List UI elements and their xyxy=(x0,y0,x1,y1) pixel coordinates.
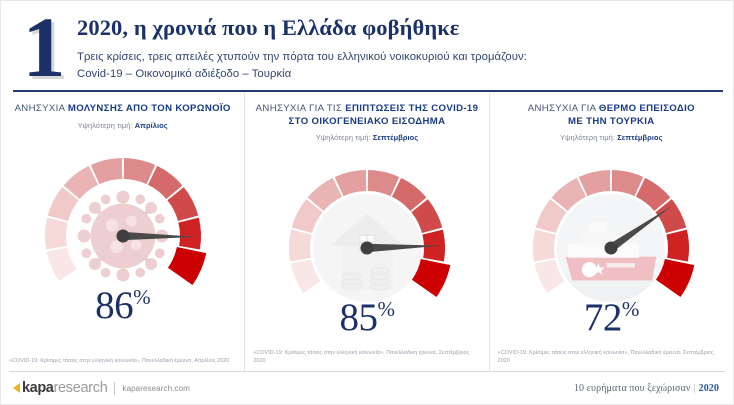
gauge xyxy=(25,132,221,292)
gauge-dial xyxy=(25,132,221,292)
gauge-value-number: 86 xyxy=(95,284,133,327)
panel-peak-line: Υψηλότερη τιμή: Σεπτέμβριος xyxy=(496,133,727,142)
panel-peak-value: Απρίλιος xyxy=(135,121,168,130)
gauge-segment-2 xyxy=(45,217,68,249)
logo-divider xyxy=(114,382,115,395)
gauge-value-percent: % xyxy=(377,297,394,321)
panel-title-plain: ΑΝΗΣΥΧΙΑ ΓΙΑ xyxy=(528,103,599,114)
needle-hub xyxy=(360,242,373,255)
panel-peak-value: Σεπτέμβριος xyxy=(617,133,662,142)
header-divider xyxy=(13,90,723,92)
header: 1 2020, η χρονιά που η Ελλάδα φοβήθηκε Τ… xyxy=(1,1,733,93)
subtitle-line-1: Τρεις κρίσεις, τρεις απειλές χτυπούν την… xyxy=(77,49,733,66)
panel-title-bold: ΘΕΡΜΟ ΕΠΕΙΣΟΔΙΟ xyxy=(599,103,695,114)
panel-title-plain: ΑΝΗΣΥΧΙΑ ΓΙΑ ΤΙΣ xyxy=(256,103,346,114)
gauge-segment-9 xyxy=(667,230,690,262)
gauge-value: 86% xyxy=(7,276,238,327)
gauge-needle xyxy=(605,206,672,254)
needle-hub xyxy=(605,242,618,255)
page-title: 2020, η χρονιά που η Ελλάδα φοβήθηκε xyxy=(77,14,733,42)
needle-hub xyxy=(116,229,129,242)
panel-source-note: «COVID-19: Κρίσιμες τάσεις στην ελληνική… xyxy=(253,350,480,365)
gauge-panels: ΑΝΗΣΥΧΙΑ ΜΟΛΥΝΣΗΣ ΑΠΟ ΤΟΝ ΚΟΡΩΝΟΪΟ Υψηλό… xyxy=(1,93,733,371)
footer-separator: | xyxy=(693,383,695,394)
gauge-value-number: 72 xyxy=(584,296,622,339)
panel-coronavirus-worry: ΑΝΗΣΥΧΙΑ ΜΟΛΥΝΣΗΣ ΑΠΟ ΤΟΝ ΚΟΡΩΝΟΪΟ Υψηλό… xyxy=(1,93,244,371)
gauge-segments xyxy=(289,170,450,297)
triangle-icon xyxy=(13,383,20,393)
gauge-value-number: 85 xyxy=(339,296,377,339)
panel-title-bold-2: ΣΤΟ ΟΙΚΟΓΕΝΕΙΑΚΟ ΕΙΣΟΔΗΜΑ xyxy=(289,116,446,127)
panel-title-bold: ΕΠΙΠΤΩΣΕΙΣ ΤΗΣ COVID-19 xyxy=(345,103,478,114)
panel-peak-value: Σεπτέμβριος xyxy=(373,133,418,142)
panel-income-impact-worry: ΑΝΗΣΥΧΙΑ ΓΙΑ ΤΙΣ ΕΠΙΠΤΩΣΕΙΣ ΤΗΣ COVID-19… xyxy=(244,93,488,371)
gauge-value: 85% xyxy=(251,288,482,339)
gauge-segment-2 xyxy=(289,230,312,262)
subtitle-line-2: Covid-19 – Οικονομικό αδιέξοδο – Τουρκία xyxy=(77,66,733,83)
gauge-dial xyxy=(513,144,709,304)
panel-peak-label: Υψηλότερη τιμή: xyxy=(560,133,617,142)
panel-title: ΑΝΗΣΥΧΙΑ ΓΙΑ ΘΕΡΜΟ ΕΠΕΙΣΟΔΙΟΜΕ ΤΗΝ ΤΟΥΡΚ… xyxy=(496,103,727,128)
footer-tagline-text: 10 ευρήματα που ξεχώρισαν xyxy=(574,383,691,394)
gauge-value-percent: % xyxy=(133,285,150,309)
gauge-value-percent: % xyxy=(622,297,639,321)
panel-title: ΑΝΗΣΥΧΙΑ ΓΙΑ ΤΙΣ ΕΠΙΠΤΩΣΕΙΣ ΤΗΣ COVID-19… xyxy=(251,103,482,128)
panel-title: ΑΝΗΣΥΧΙΑ ΜΟΛΥΝΣΗΣ ΑΠΟ ΤΟΝ ΚΟΡΩΝΟΪΟ xyxy=(7,103,238,116)
panel-source-note: «COVID-19: Κρίσιμες τάσεις στην ελληνική… xyxy=(9,358,236,365)
gauge-segments xyxy=(533,170,694,297)
footer-tagline: 10 ευρήματα που ξεχώρισαν|2020 xyxy=(574,383,719,394)
gauge-segment-9 xyxy=(178,217,201,249)
panel-peak-label: Υψηλότερη τιμή: xyxy=(78,121,135,130)
panel-title-bold: ΜΟΛΥΝΣΗΣ ΑΠΟ ΤΟΝ ΚΟΡΩΝΟΪΟ xyxy=(68,103,231,114)
footer: kaparesearch kaparesearch.com 10 ευρήματ… xyxy=(9,371,725,404)
panel-peak-line: Υψηλότερη τιμή: Απρίλιος xyxy=(7,121,238,130)
panel-peak-line: Υψηλότερη τιμή: Σεπτέμβριος xyxy=(251,133,482,142)
gauge-dial xyxy=(269,144,465,304)
brand-logo[interactable]: kaparesearch kaparesearch.com xyxy=(13,380,190,396)
panel-peak-label: Υψηλότερη τιμή: xyxy=(316,133,373,142)
infographic-page: 1 2020, η χρονιά που η Ελλάδα φοβήθηκε Τ… xyxy=(0,0,734,405)
gauge-segments xyxy=(45,158,206,285)
page-subtitle: Τρεις κρίσεις, τρεις απειλές χτυπούν την… xyxy=(77,49,733,82)
slide-number: 1 xyxy=(15,3,71,91)
logo-research-text: research xyxy=(53,380,107,396)
gauge-value: 72% xyxy=(496,288,727,339)
needle-pointer xyxy=(609,206,672,251)
panel-source-note: «COVID-19: Κρίσιμες τάσεις στην ελληνική… xyxy=(498,350,725,365)
gauge xyxy=(269,144,465,304)
header-text-block: 2020, η χρονιά που η Ελλάδα φοβήθηκε Τρε… xyxy=(77,7,733,82)
panel-turkey-incident-worry: ΑΝΗΣΥΧΙΑ ΓΙΑ ΘΕΡΜΟ ΕΠΕΙΣΟΔΙΟΜΕ ΤΗΝ ΤΟΥΡΚ… xyxy=(489,93,733,371)
gauge-segment-2 xyxy=(533,230,556,262)
logo-kapa-text: kapa xyxy=(22,380,53,396)
panel-title-plain: ΑΝΗΣΥΧΙΑ xyxy=(15,103,68,114)
panel-title-bold-2: ΜΕ ΤΗΝ ΤΟΥΡΚΙΑ xyxy=(568,116,655,127)
brand-url[interactable]: kaparesearch.com xyxy=(122,384,189,393)
footer-year: 2020 xyxy=(699,383,719,394)
gauge xyxy=(513,144,709,304)
